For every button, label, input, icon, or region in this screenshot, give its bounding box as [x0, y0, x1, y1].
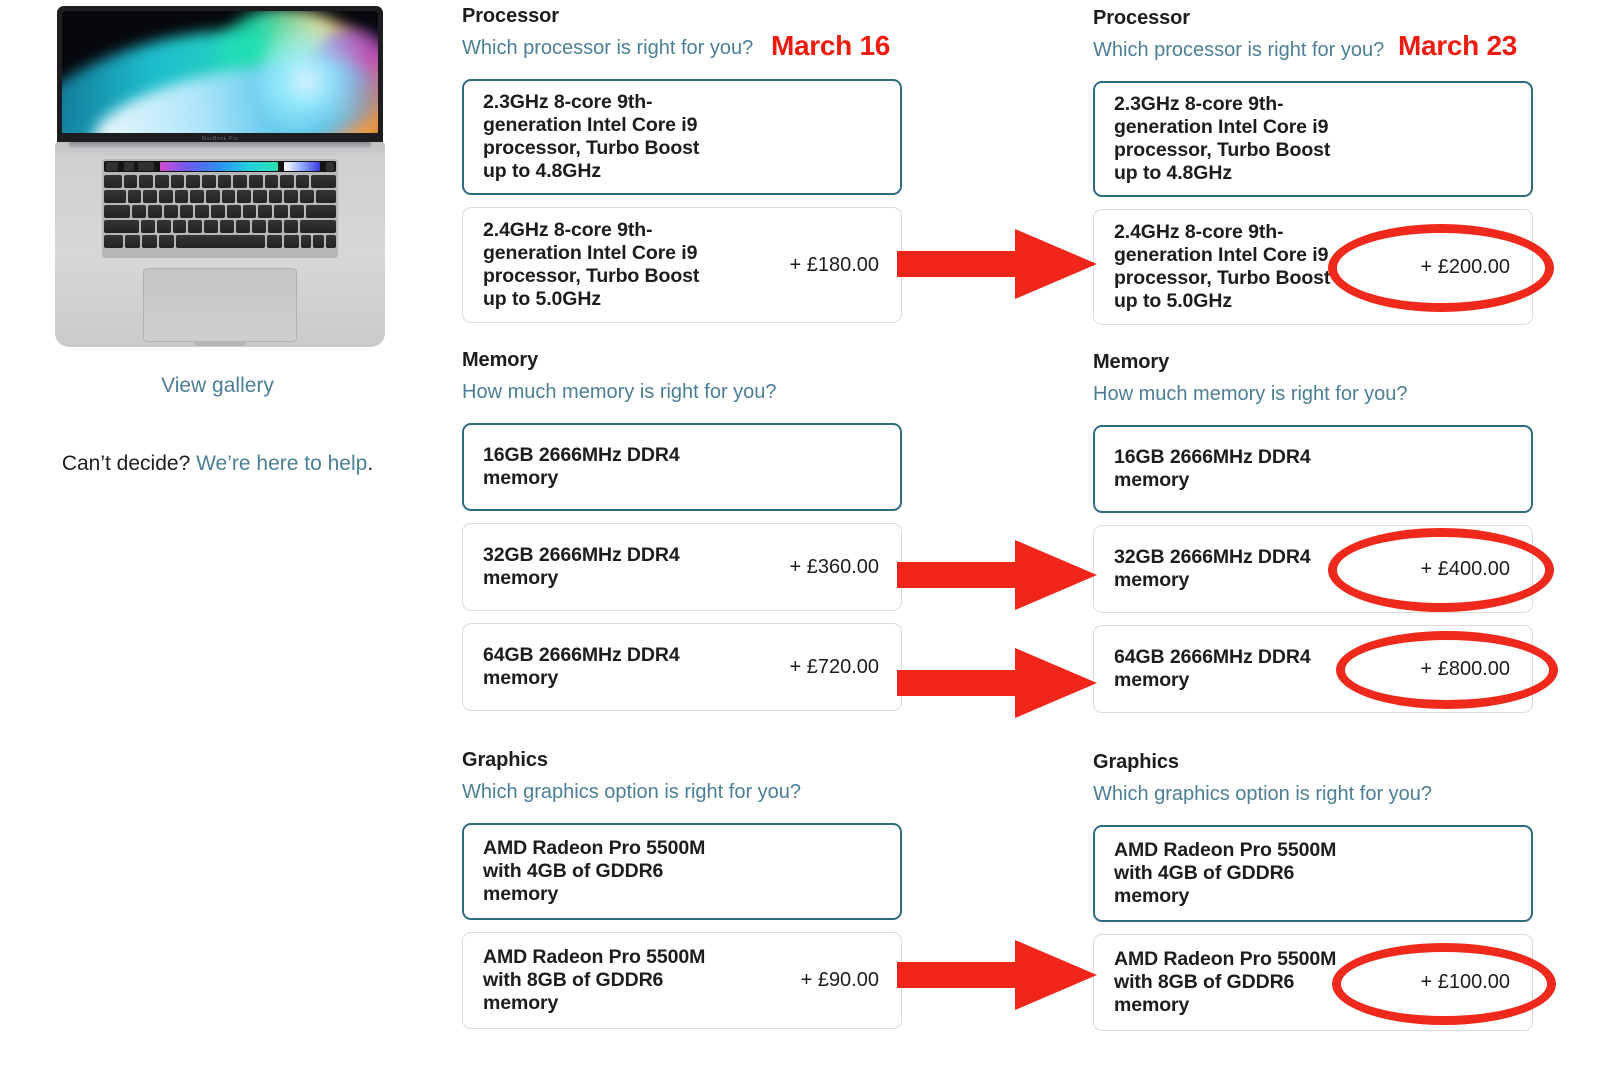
macbook-keyboard-row-2 — [104, 190, 336, 203]
option-price: + £180.00 — [789, 254, 879, 277]
macbook-base — [55, 142, 385, 347]
column-before-price-change: March 16 Processor Which processor is ri… — [462, 0, 902, 1065]
option-list: 16GB 2666MHz DDR4 memory 32GB 2666MHz DD… — [462, 423, 902, 711]
macbook-front-notch — [194, 341, 246, 346]
option-list: 2.3GHz 8-core 9th- generation Intel Core… — [462, 79, 902, 323]
section-subtitle-link[interactable]: Which processor is right for you? — [462, 37, 902, 62]
section-title: Graphics — [462, 749, 902, 774]
macbook-trackpad — [143, 268, 297, 342]
column-after-price-change: March 23 Processor Which processor is ri… — [1093, 0, 1533, 1065]
section-title: Processor — [1093, 7, 1533, 32]
option-box[interactable]: 16GB 2666MHz DDR4 memory — [462, 423, 902, 511]
change-arrow-graphics-8gb — [897, 940, 1097, 1010]
option-price: + £100.00 — [1420, 971, 1510, 994]
option-title: 64GB 2666MHz DDR4 memory — [483, 644, 680, 690]
option-price: + £360.00 — [789, 556, 879, 579]
option-price: + £200.00 — [1420, 256, 1510, 279]
macbook-keyboard-row-5 — [104, 235, 336, 248]
option-title: AMD Radeon Pro 5500M with 8GB of GDDR6 m… — [1114, 948, 1336, 1017]
option-box[interactable]: 32GB 2666MHz DDR4 memory + £360.00 — [462, 523, 902, 611]
macbook-screen-wallpaper — [62, 11, 378, 137]
option-price: + £720.00 — [789, 656, 879, 679]
option-list: AMD Radeon Pro 5500M with 4GB of GDDR6 m… — [1093, 825, 1533, 1031]
macbook-hinge — [69, 142, 371, 148]
option-title: AMD Radeon Pro 5500M with 8GB of GDDR6 m… — [483, 946, 705, 1015]
section-memory-before: Memory How much memory is right for you?… — [462, 349, 902, 723]
macbook-keyboard-row-1 — [104, 175, 336, 188]
option-list: AMD Radeon Pro 5500M with 4GB of GDDR6 m… — [462, 823, 902, 1029]
macbook-keyboard-row-4 — [104, 220, 336, 233]
option-title: 2.3GHz 8-core 9th- generation Intel Core… — [483, 91, 699, 183]
macbook-touch-bar — [104, 161, 336, 172]
option-title: 32GB 2666MHz DDR4 memory — [1114, 546, 1311, 592]
macbook-keyboard-row-3 — [104, 205, 336, 218]
option-title: 16GB 2666MHz DDR4 memory — [483, 444, 680, 490]
option-title: 2.3GHz 8-core 9th- generation Intel Core… — [1114, 93, 1330, 185]
option-box[interactable]: AMD Radeon Pro 5500M with 8GB of GDDR6 m… — [1093, 934, 1533, 1031]
macbook-lid — [57, 6, 383, 146]
option-box[interactable]: 16GB 2666MHz DDR4 memory — [1093, 425, 1533, 513]
option-title: 2.4GHz 8-core 9th- generation Intel Core… — [1114, 221, 1330, 313]
help-suffix-text: . — [367, 452, 373, 475]
product-panel: MacBook Pro — [0, 0, 435, 1065]
option-box[interactable]: 64GB 2666MHz DDR4 memory + £800.00 — [1093, 625, 1533, 713]
section-processor-after: Processor Which processor is right for y… — [1093, 7, 1533, 337]
option-box[interactable]: 2.4GHz 8-core 9th- generation Intel Core… — [462, 207, 902, 323]
option-box[interactable]: AMD Radeon Pro 5500M with 4GB of GDDR6 m… — [1093, 825, 1533, 922]
section-subtitle-link[interactable]: How much memory is right for you? — [462, 381, 902, 406]
were-here-to-help-link[interactable]: We’re here to help — [196, 452, 367, 475]
option-price: + £400.00 — [1420, 558, 1510, 581]
section-title: Processor — [462, 5, 902, 30]
section-subtitle-link[interactable]: Which graphics option is right for you? — [1093, 783, 1533, 808]
option-price: + £800.00 — [1420, 658, 1510, 681]
option-title: AMD Radeon Pro 5500M with 4GB of GDDR6 m… — [1114, 839, 1336, 908]
view-gallery-link[interactable]: View gallery — [0, 374, 435, 398]
option-title: 64GB 2666MHz DDR4 memory — [1114, 646, 1311, 692]
option-box[interactable]: AMD Radeon Pro 5500M with 8GB of GDDR6 m… — [462, 932, 902, 1029]
macbook-pro-product-image: MacBook Pro — [55, 2, 385, 347]
option-title: AMD Radeon Pro 5500M with 4GB of GDDR6 m… — [483, 837, 705, 906]
section-subtitle-link[interactable]: How much memory is right for you? — [1093, 383, 1533, 408]
section-subtitle-link[interactable]: Which processor is right for you? — [1093, 39, 1533, 64]
option-box[interactable]: 32GB 2666MHz DDR4 memory + £400.00 — [1093, 525, 1533, 613]
change-arrow-memory-32gb — [897, 540, 1097, 610]
section-graphics-after: Graphics Which graphics option is right … — [1093, 751, 1533, 1043]
change-arrow-processor — [897, 229, 1097, 299]
option-title: 2.4GHz 8-core 9th- generation Intel Core… — [483, 219, 699, 311]
section-graphics-before: Graphics Which graphics option is right … — [462, 749, 902, 1041]
option-title: 32GB 2666MHz DDR4 memory — [483, 544, 680, 590]
option-title: 16GB 2666MHz DDR4 memory — [1114, 446, 1311, 492]
section-processor-before: Processor Which processor is right for y… — [462, 5, 902, 335]
change-arrow-memory-64gb — [897, 648, 1097, 718]
cant-decide-help-text: Can’t decide? We’re here to help. — [0, 452, 435, 476]
option-list: 2.3GHz 8-core 9th- generation Intel Core… — [1093, 81, 1533, 325]
section-title: Graphics — [1093, 751, 1533, 776]
option-box[interactable]: 2.3GHz 8-core 9th- generation Intel Core… — [462, 79, 902, 195]
section-title: Memory — [462, 349, 902, 374]
price-comparison-page: MacBook Pro — [0, 0, 1600, 1065]
option-box[interactable]: 2.4GHz 8-core 9th- generation Intel Core… — [1093, 209, 1533, 325]
section-title: Memory — [1093, 351, 1533, 376]
option-list: 16GB 2666MHz DDR4 memory 32GB 2666MHz DD… — [1093, 425, 1533, 713]
option-box[interactable]: 64GB 2666MHz DDR4 memory + £720.00 — [462, 623, 902, 711]
option-price: + £90.00 — [801, 969, 879, 992]
section-subtitle-link[interactable]: Which graphics option is right for you? — [462, 781, 902, 806]
help-prefix-text: Can’t decide? — [62, 452, 196, 475]
option-box[interactable]: AMD Radeon Pro 5500M with 4GB of GDDR6 m… — [462, 823, 902, 920]
section-memory-after: Memory How much memory is right for you?… — [1093, 351, 1533, 725]
option-box[interactable]: 2.3GHz 8-core 9th- generation Intel Core… — [1093, 81, 1533, 197]
